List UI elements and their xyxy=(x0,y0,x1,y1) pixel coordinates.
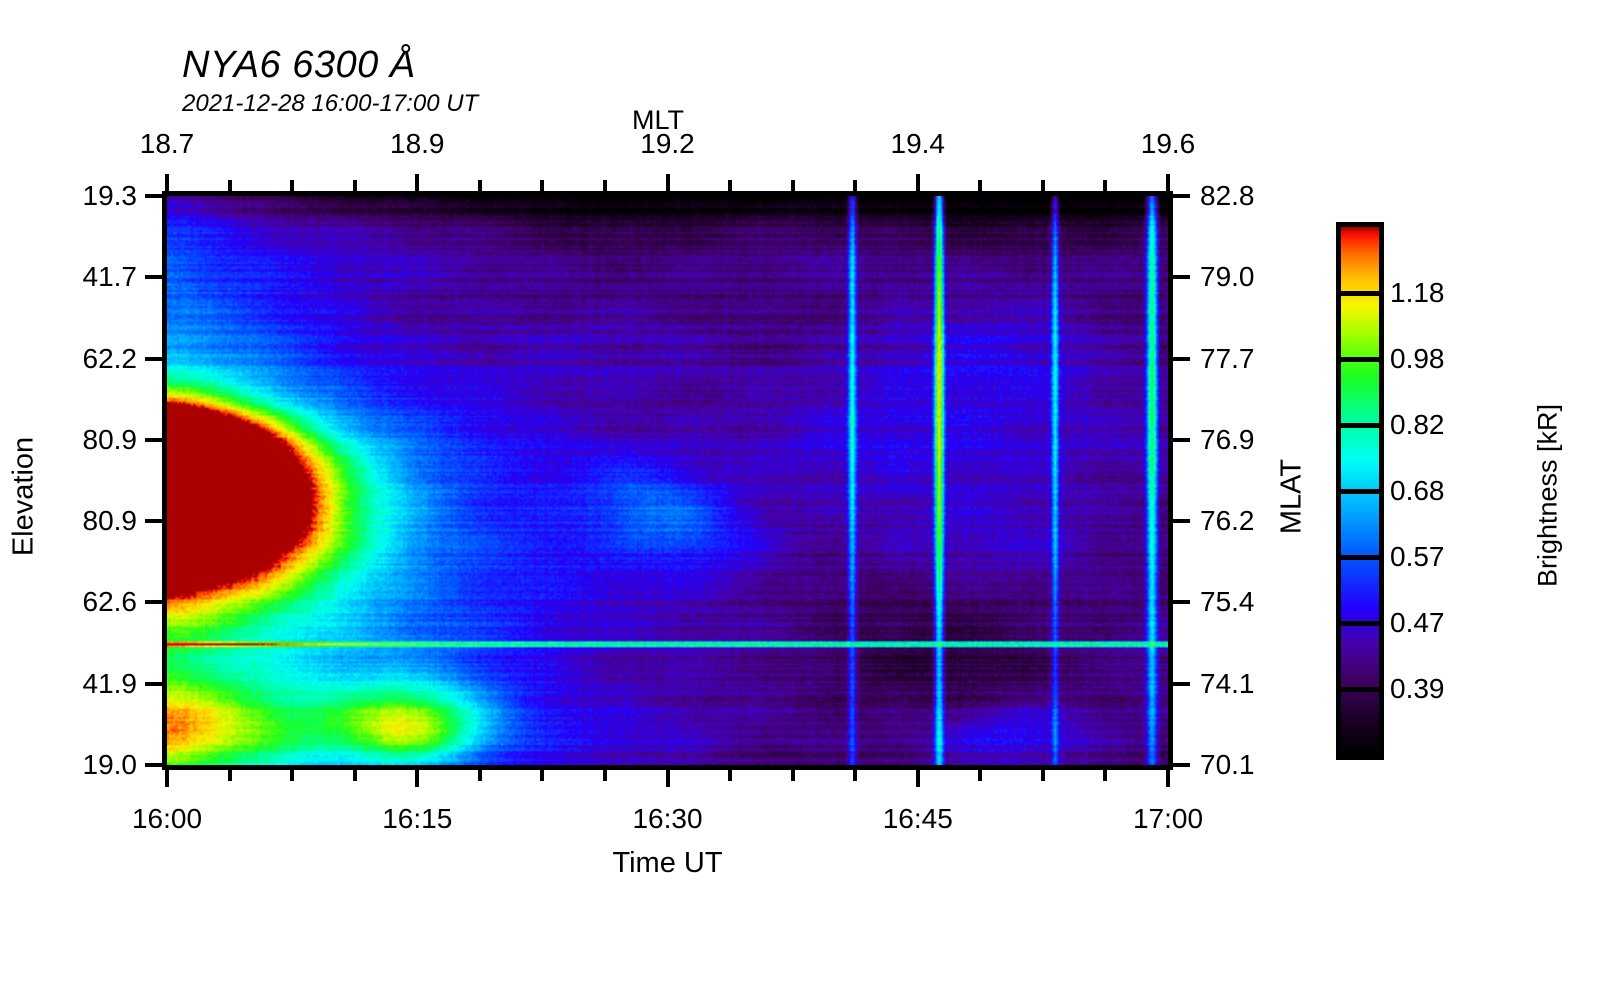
tick-top-minor xyxy=(603,180,607,191)
tick-label-bottom: 16:00 xyxy=(132,803,202,835)
tick-label-left: 80.9 xyxy=(7,505,137,537)
tick-label-bottom: 16:30 xyxy=(632,803,702,835)
colorbar-separator xyxy=(1336,489,1384,494)
tick-bottom-minor xyxy=(791,770,795,781)
tick-label-left: 19.0 xyxy=(7,749,137,781)
colorbar-tick-label: 0.39 xyxy=(1390,673,1445,705)
tick-right xyxy=(1173,357,1190,361)
colorbar-border-bottom xyxy=(1336,755,1384,760)
tick-left xyxy=(145,438,162,442)
tick-label-right: 79.0 xyxy=(1200,261,1330,293)
keogram-plot-area xyxy=(167,196,1168,765)
colorbar-separator xyxy=(1336,687,1384,692)
tick-label-right: 76.9 xyxy=(1200,424,1330,456)
tick-bottom-major xyxy=(916,770,920,787)
tick-label-top: 19.6 xyxy=(1141,128,1196,160)
tick-right xyxy=(1173,438,1190,442)
tick-label-left: 62.6 xyxy=(7,586,137,618)
tick-label-left: 80.9 xyxy=(7,424,137,456)
tick-top-minor xyxy=(728,180,732,191)
tick-right xyxy=(1173,275,1190,279)
colorbar-separator xyxy=(1336,621,1384,626)
tick-left xyxy=(145,194,162,198)
tick-bottom-minor xyxy=(290,770,294,781)
colorbar-separator xyxy=(1336,357,1384,362)
tick-bottom-minor xyxy=(1103,770,1107,781)
tick-right xyxy=(1173,194,1190,198)
tick-label-top: 19.2 xyxy=(640,128,695,160)
tick-right xyxy=(1173,763,1190,767)
tick-top-minor xyxy=(478,180,482,191)
tick-left xyxy=(145,682,162,686)
colorbar-tick-label: 0.98 xyxy=(1390,343,1445,375)
tick-right xyxy=(1173,682,1190,686)
tick-bottom-minor xyxy=(1041,770,1045,781)
tick-left xyxy=(145,275,162,279)
tick-top-minor xyxy=(791,180,795,191)
tick-label-left: 41.9 xyxy=(7,668,137,700)
tick-label-right: 82.8 xyxy=(1200,180,1330,212)
tick-bottom-minor xyxy=(853,770,857,781)
colorbar-title: Brightness [kR] xyxy=(1533,346,1564,646)
tick-right xyxy=(1173,519,1190,523)
colorbar-border-top xyxy=(1336,222,1384,227)
colorbar-separator xyxy=(1336,423,1384,428)
colorbar xyxy=(1336,222,1384,760)
tick-label-left: 62.2 xyxy=(7,343,137,375)
tick-bottom-minor xyxy=(540,770,544,781)
tick-top-minor xyxy=(853,180,857,191)
tick-bottom-major xyxy=(666,770,670,787)
plot-subtitle: 2021-12-28 16:00-17:00 UT xyxy=(182,90,478,118)
tick-top-minor xyxy=(978,180,982,191)
plot-border-left xyxy=(162,191,167,770)
tick-label-right: 70.1 xyxy=(1200,749,1330,781)
tick-bottom-major xyxy=(415,770,419,787)
tick-right xyxy=(1173,600,1190,604)
colorbar-tick-label: 0.82 xyxy=(1390,409,1445,441)
tick-bottom-minor xyxy=(353,770,357,781)
tick-top-major xyxy=(666,174,670,191)
tick-top-major xyxy=(415,174,419,191)
tick-bottom-major xyxy=(165,770,169,787)
tick-top-minor xyxy=(1103,180,1107,191)
tick-label-top: 19.4 xyxy=(891,128,946,160)
tick-label-right: 75.4 xyxy=(1200,586,1330,618)
tick-label-bottom: 16:45 xyxy=(883,803,953,835)
tick-left xyxy=(145,600,162,604)
tick-label-top: 18.9 xyxy=(390,128,445,160)
tick-left xyxy=(145,357,162,361)
tick-left xyxy=(145,763,162,767)
colorbar-tick-label: 0.57 xyxy=(1390,541,1445,573)
tick-top-minor xyxy=(228,180,232,191)
plot-title: NYA6 6300 Å xyxy=(182,44,416,87)
keogram-heatmap xyxy=(167,196,1168,765)
colorbar-tick-label: 1.18 xyxy=(1390,277,1445,309)
tick-top-minor xyxy=(1041,180,1045,191)
tick-label-right: 76.2 xyxy=(1200,505,1330,537)
tick-bottom-minor xyxy=(978,770,982,781)
tick-top-major xyxy=(916,174,920,191)
tick-top-major xyxy=(1166,174,1170,191)
plot-border-top xyxy=(162,191,1173,196)
colorbar-tick-label: 0.68 xyxy=(1390,475,1445,507)
tick-bottom-minor xyxy=(228,770,232,781)
tick-label-left: 41.7 xyxy=(7,261,137,293)
tick-bottom-minor xyxy=(478,770,482,781)
tick-top-minor xyxy=(290,180,294,191)
colorbar-separator xyxy=(1336,291,1384,296)
tick-label-right: 77.7 xyxy=(1200,343,1330,375)
tick-label-right: 74.1 xyxy=(1200,668,1330,700)
tick-left xyxy=(145,519,162,523)
colorbar-tick-label: 0.47 xyxy=(1390,607,1445,639)
tick-top-minor xyxy=(540,180,544,191)
tick-bottom-minor xyxy=(728,770,732,781)
tick-top-minor xyxy=(353,180,357,191)
tick-bottom-major xyxy=(1166,770,1170,787)
tick-label-bottom: 17:00 xyxy=(1133,803,1203,835)
colorbar-separator xyxy=(1336,555,1384,560)
tick-label-left: 19.3 xyxy=(7,180,137,212)
tick-label-top: 18.7 xyxy=(140,128,195,160)
tick-top-major xyxy=(165,174,169,191)
tick-label-bottom: 16:15 xyxy=(382,803,452,835)
tick-bottom-minor xyxy=(603,770,607,781)
x-axis-title: Time UT xyxy=(0,847,1335,880)
